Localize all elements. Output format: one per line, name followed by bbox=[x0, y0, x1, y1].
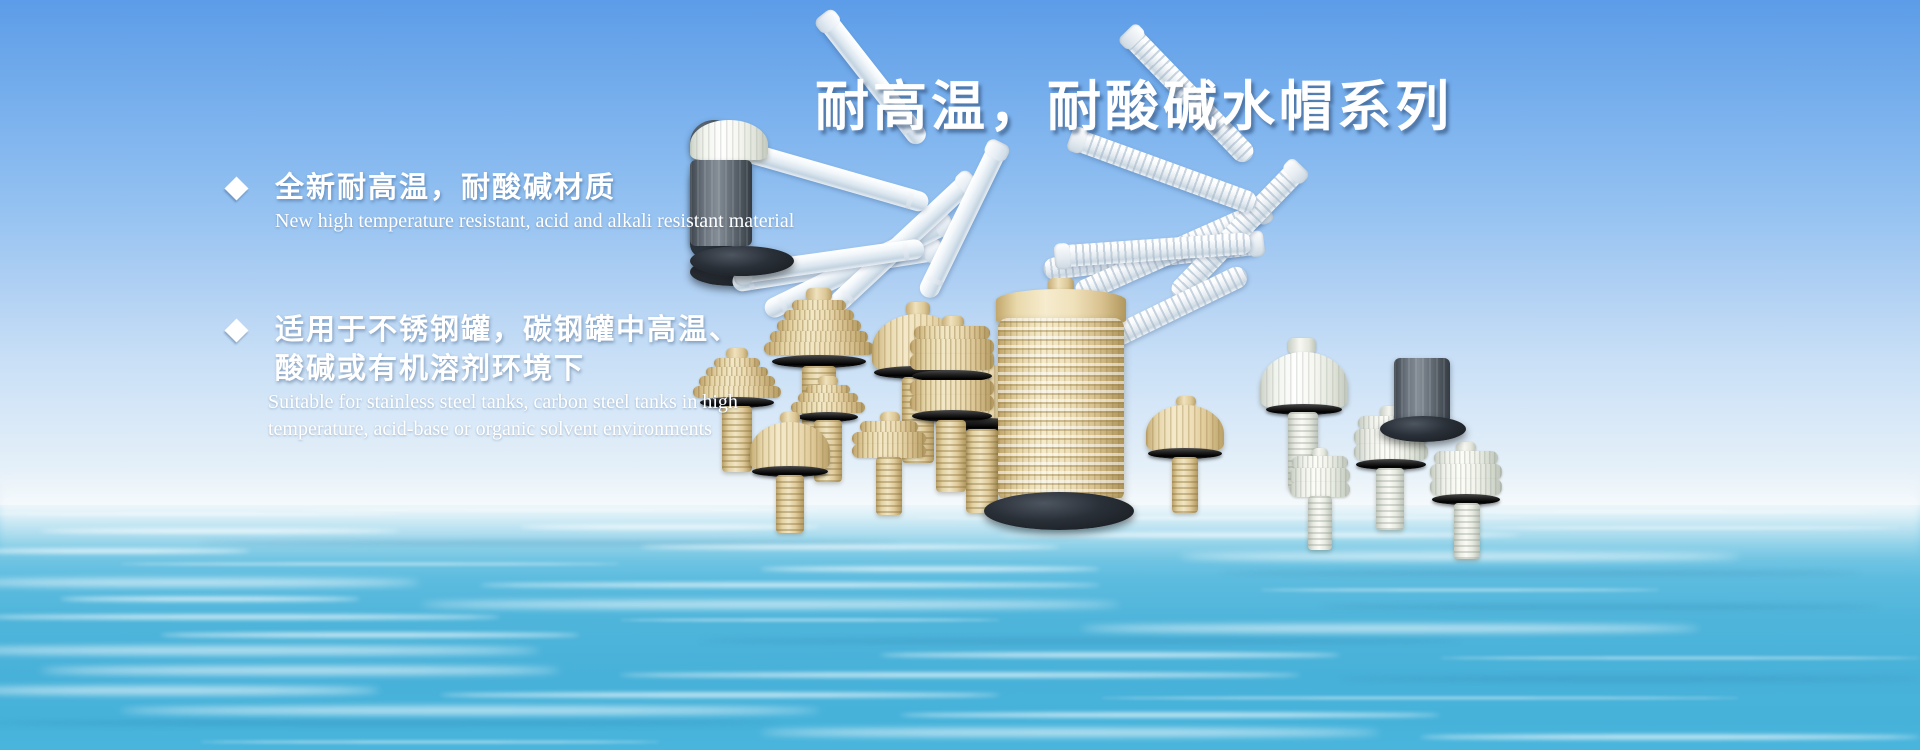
corrugated-hub-flange bbox=[690, 246, 794, 276]
diamond-marker bbox=[224, 176, 248, 200]
bullet-1-subtitle-en: New high temperature resistant, acid and… bbox=[275, 209, 794, 234]
product-cluster bbox=[690, 120, 1510, 550]
diamond-marker bbox=[224, 318, 248, 342]
bullet-2-subtitle-en-line2: temperature, acid-base or organic solven… bbox=[268, 417, 740, 442]
corrugated-hub-cap bbox=[690, 120, 768, 160]
bullet-2-heading-cn-line2: 酸碱或有机溶剂环境下 bbox=[275, 349, 740, 388]
feature-bullet-1: 全新耐高温，耐酸碱材质 New high temperature resista… bbox=[228, 168, 794, 234]
bullet-1-heading-cn: 全新耐高温，耐酸碱材质 bbox=[275, 168, 616, 207]
feature-bullet-2: 适用于不锈钢罐，碳钢罐中高温、 酸碱或有机溶剂环境下 Suitable for … bbox=[228, 310, 740, 442]
bullet-2-heading-cn-line1: 适用于不锈钢罐，碳钢罐中高温、 bbox=[275, 310, 740, 349]
promo-banner: 耐高温，耐酸碱水帽系列 全新耐高温，耐酸碱材质 New high tempera… bbox=[0, 0, 1920, 750]
page-title: 耐高温，耐酸碱水帽系列 bbox=[815, 62, 1453, 141]
bullet-2-subtitle-en-line1: Suitable for stainless steel tanks, carb… bbox=[268, 390, 740, 415]
